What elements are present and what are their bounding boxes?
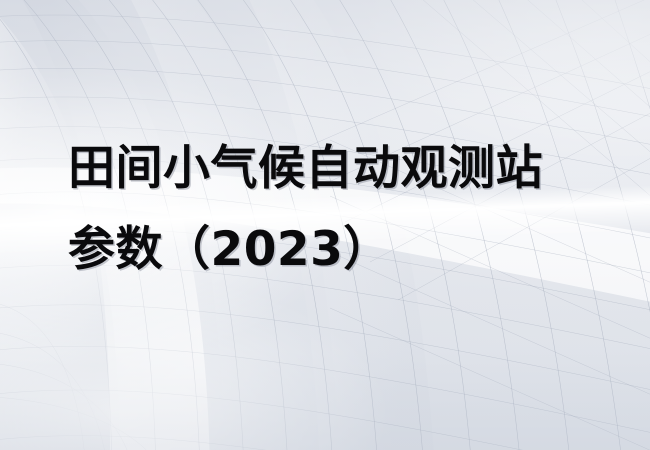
background-curve-group-lower-left	[0, 300, 162, 450]
title-slide: 田间小气候自动观测站 参数（2023）	[0, 0, 650, 450]
title-line-2: 参数（2023）	[68, 209, 608, 290]
slide-title: 田间小气候自动观测站 参数（2023）	[68, 128, 608, 290]
title-line-1: 田间小气候自动观测站	[68, 128, 608, 209]
